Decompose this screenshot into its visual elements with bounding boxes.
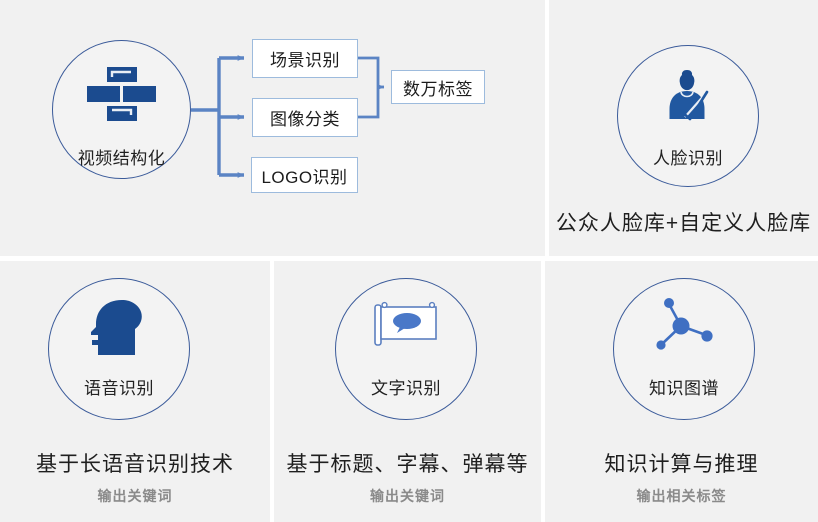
- knowledge-graph-caption-main: 知识计算与推理: [545, 448, 818, 478]
- knowledge-graph-caption-sub: 输出相关标签: [545, 486, 818, 506]
- node-link-graph-icon: [613, 293, 755, 355]
- text-recognition-circle-label: 文字识别: [335, 374, 477, 399]
- tens-of-thousands-tags-label: 数万标签: [403, 75, 473, 100]
- panel-speech-recognition: 语音识别 基于长语音识别技术 输出关键词: [0, 261, 270, 522]
- banner-speech-bubble-icon: [335, 301, 477, 353]
- speech-recognition-circle-label: 语音识别: [48, 374, 190, 399]
- speaking-head-profile-icon: [48, 299, 190, 357]
- tens-of-thousands-tags-box[interactable]: 数万标签: [391, 70, 485, 104]
- infographic-canvas: 视频结构化 场景识别: [0, 0, 818, 522]
- panel-face-recognition: 人脸识别 公众人脸库+自定义人脸库: [549, 0, 818, 256]
- face-recognition-circle-label: 人脸识别: [617, 144, 759, 169]
- logo-recognition-label: LOGO识别: [261, 163, 347, 188]
- scene-recognition-label: 场景识别: [270, 46, 340, 71]
- image-classification-label: 图像分类: [270, 105, 340, 130]
- knowledge-graph-circle-label: 知识图谱: [613, 374, 755, 399]
- panel-text-recognition: 文字识别 基于标题、字幕、弹幕等 输出关键词: [274, 261, 541, 522]
- person-face-scan-icon: [617, 68, 759, 122]
- text-recognition-caption-main: 基于标题、字幕、弹幕等: [274, 448, 541, 478]
- scene-recognition-box[interactable]: 场景识别: [252, 39, 358, 78]
- text-recognition-caption-sub: 输出关键词: [274, 486, 541, 506]
- speech-recognition-caption-sub: 输出关键词: [0, 486, 270, 506]
- panel-knowledge-graph: 知识图谱 知识计算与推理 输出相关标签: [545, 261, 818, 522]
- face-recognition-caption: 公众人脸库+自定义人脸库: [549, 207, 818, 237]
- image-classification-box[interactable]: 图像分类: [252, 98, 358, 137]
- panel-video-structuring: 视频结构化 场景识别: [0, 0, 545, 256]
- logo-recognition-box[interactable]: LOGO识别: [251, 157, 358, 193]
- speech-recognition-caption-main: 基于长语音识别技术: [0, 448, 270, 478]
